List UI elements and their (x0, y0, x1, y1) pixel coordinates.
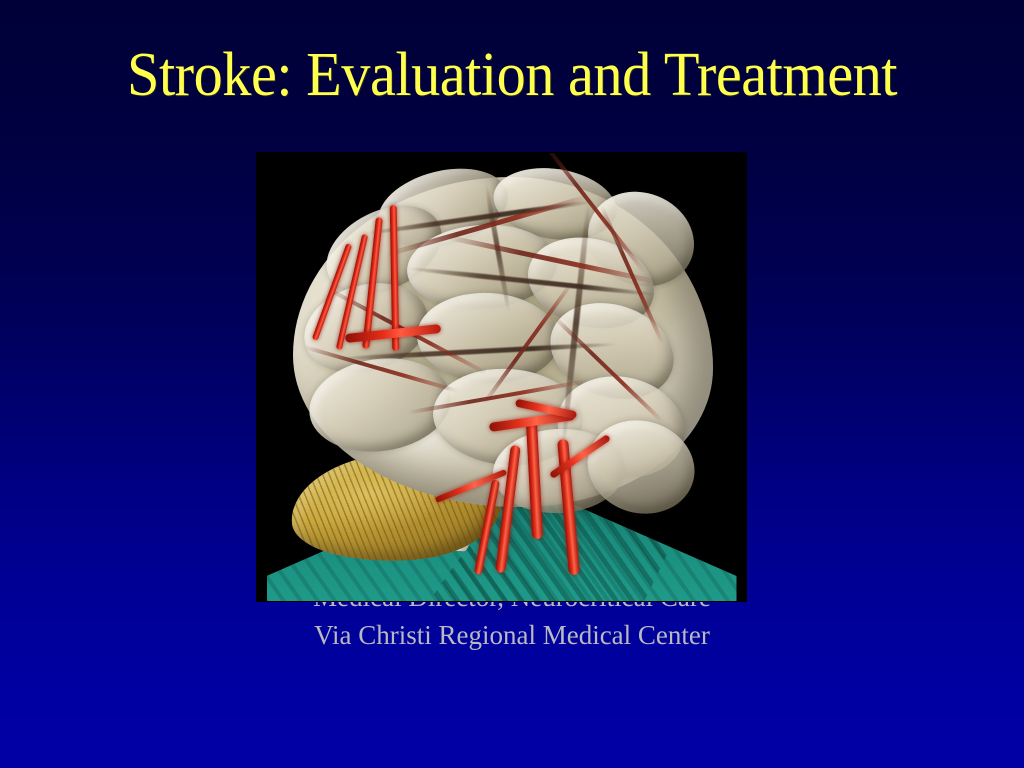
brain-image[interactable] (257, 153, 746, 601)
presentation-slide: Stroke: Evaluation and Treatment Medical… (0, 0, 1024, 768)
subtitle-line-institution: Via Christi Regional Medical Center (0, 616, 1024, 654)
page-title: Stroke: Evaluation and Treatment (31, 44, 994, 106)
brain-illustration (257, 153, 746, 601)
